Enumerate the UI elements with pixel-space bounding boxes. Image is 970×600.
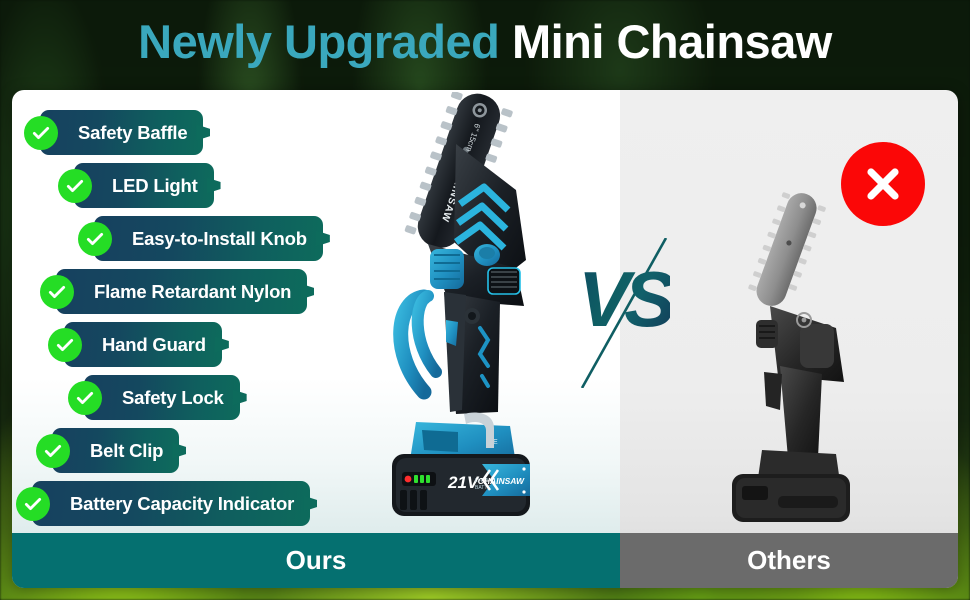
feature-label: Safety Lock — [122, 387, 224, 409]
feature-pill: Easy-to-Install Knob — [94, 216, 323, 261]
feature-pill: Hand Guard — [64, 322, 222, 367]
feature-pill: Flame Retardant Nylon — [56, 269, 307, 314]
mini-chainsaw-others-image — [718, 186, 908, 531]
feature-label: Belt Clip — [90, 440, 163, 462]
ours-label-bar: Ours — [12, 533, 620, 588]
feature-label: Hand Guard — [102, 334, 206, 356]
feature-label: Easy-to-Install Knob — [132, 228, 307, 250]
others-label: Others — [747, 545, 831, 576]
x-circle-icon — [841, 142, 925, 226]
check-circle-icon — [24, 116, 58, 150]
title-part-product: Mini Chainsaw — [512, 15, 832, 68]
others-label-bar: Others — [620, 533, 958, 588]
check-circle-icon — [36, 434, 70, 468]
check-circle-icon — [48, 328, 82, 362]
versus-marker: VS — [578, 238, 670, 368]
close-icon — [859, 160, 907, 208]
feature-pill: Battery Capacity Indicator — [32, 481, 310, 526]
feature-pill: Belt Clip — [52, 428, 179, 473]
check-circle-icon — [16, 487, 50, 521]
check-circle-icon — [68, 381, 102, 415]
feature-label: Safety Baffle — [78, 122, 187, 144]
feature-pill: LED Light — [74, 163, 214, 208]
check-circle-icon — [78, 222, 112, 256]
svg-text:CHAINSAW: CHAINSAW — [478, 476, 525, 486]
feature-label: Flame Retardant Nylon — [94, 281, 291, 303]
ours-label: Ours — [286, 545, 347, 576]
mini-chainsaw-ours-image: 6″ 15cm CHAINSAW — [348, 92, 578, 532]
feature-label: Battery Capacity Indicator — [70, 493, 294, 515]
check-circle-icon — [40, 275, 74, 309]
check-circle-icon — [58, 169, 92, 203]
page-title: Newly Upgraded Mini Chainsaw — [0, 14, 970, 69]
title-part-highlight: Newly Upgraded — [138, 15, 499, 68]
feature-label: LED Light — [112, 175, 198, 197]
versus-label: VS — [578, 254, 670, 345]
feature-pill: Safety Baffle — [40, 110, 203, 155]
feature-pill: Safety Lock — [84, 375, 240, 420]
